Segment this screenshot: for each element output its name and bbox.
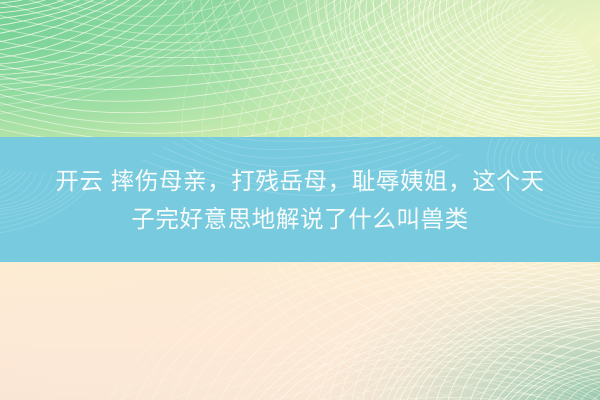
- caption-text-block: 开云 摔伤母亲，打残岳母，耻辱姨姐，这个天 子完好意思地解说了什么叫兽类: [0, 137, 600, 262]
- caption-line-2: 子完好意思地解说了什么叫兽类: [131, 204, 468, 234]
- caption-band: 开云 摔伤母亲，打残岳母，耻辱姨姐，这个天 子完好意思地解说了什么叫兽类: [0, 137, 600, 262]
- promo-banner: 开云 摔伤母亲，打残岳母，耻辱姨姐，这个天 子完好意思地解说了什么叫兽类: [0, 0, 600, 400]
- caption-line-1: 开云 摔伤母亲，打残岳母，耻辱姨姐，这个天: [55, 166, 544, 196]
